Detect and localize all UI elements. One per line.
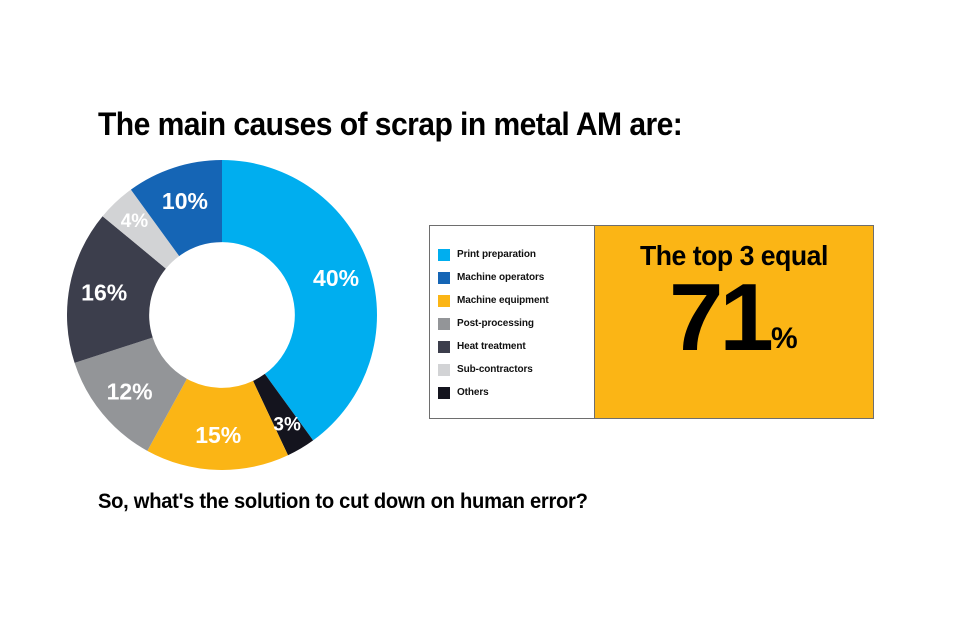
callout-box: The top 3 equal 71 % — [595, 226, 873, 418]
page-title: The main causes of scrap in metal AM are… — [98, 106, 682, 143]
donut-slice-label: 12% — [107, 378, 153, 404]
donut-chart-svg: 40%3%15%12%16%4%10% — [67, 160, 377, 470]
legend-label: Heat treatment — [457, 341, 526, 352]
legend-label: Machine operators — [457, 272, 544, 283]
legend-item[interactable]: Heat treatment — [438, 335, 594, 358]
legend-swatch-icon — [438, 272, 450, 284]
donut-chart: 40%3%15%12%16%4%10% — [67, 160, 377, 470]
callout-figure: 71 % — [670, 274, 797, 362]
callout-number: 71 — [669, 274, 770, 362]
legend-item[interactable]: Machine equipment — [438, 289, 594, 312]
legend-item[interactable]: Others — [438, 381, 594, 404]
info-panel: Print preparationMachine operatorsMachin… — [429, 225, 874, 419]
legend-label: Machine equipment — [457, 295, 549, 306]
legend-swatch-icon — [438, 295, 450, 307]
donut-slice-label: 40% — [313, 265, 359, 291]
donut-slice-label: 16% — [81, 280, 127, 306]
legend-swatch-icon — [438, 341, 450, 353]
legend-item[interactable]: Machine operators — [438, 266, 594, 289]
legend-label: Sub-contractors — [457, 364, 533, 375]
legend-item[interactable]: Sub-contractors — [438, 358, 594, 381]
legend-swatch-icon — [438, 249, 450, 261]
callout-percent-symbol: % — [771, 324, 798, 354]
legend-item[interactable]: Print preparation — [438, 243, 594, 266]
footer-question: So, what's the solution to cut down on h… — [98, 490, 588, 514]
chart-legend: Print preparationMachine operatorsMachin… — [430, 226, 595, 418]
legend-label: Others — [457, 387, 489, 398]
legend-swatch-icon — [438, 318, 450, 330]
legend-label: Print preparation — [457, 249, 536, 260]
legend-label: Post-processing — [457, 318, 534, 329]
donut-slice-label: 3% — [273, 415, 301, 436]
legend-swatch-icon — [438, 387, 450, 399]
legend-swatch-icon — [438, 364, 450, 376]
donut-slice-label: 10% — [162, 188, 208, 214]
legend-item[interactable]: Post-processing — [438, 312, 594, 335]
donut-slice-label: 4% — [121, 211, 149, 232]
donut-slice-label: 15% — [195, 422, 241, 448]
